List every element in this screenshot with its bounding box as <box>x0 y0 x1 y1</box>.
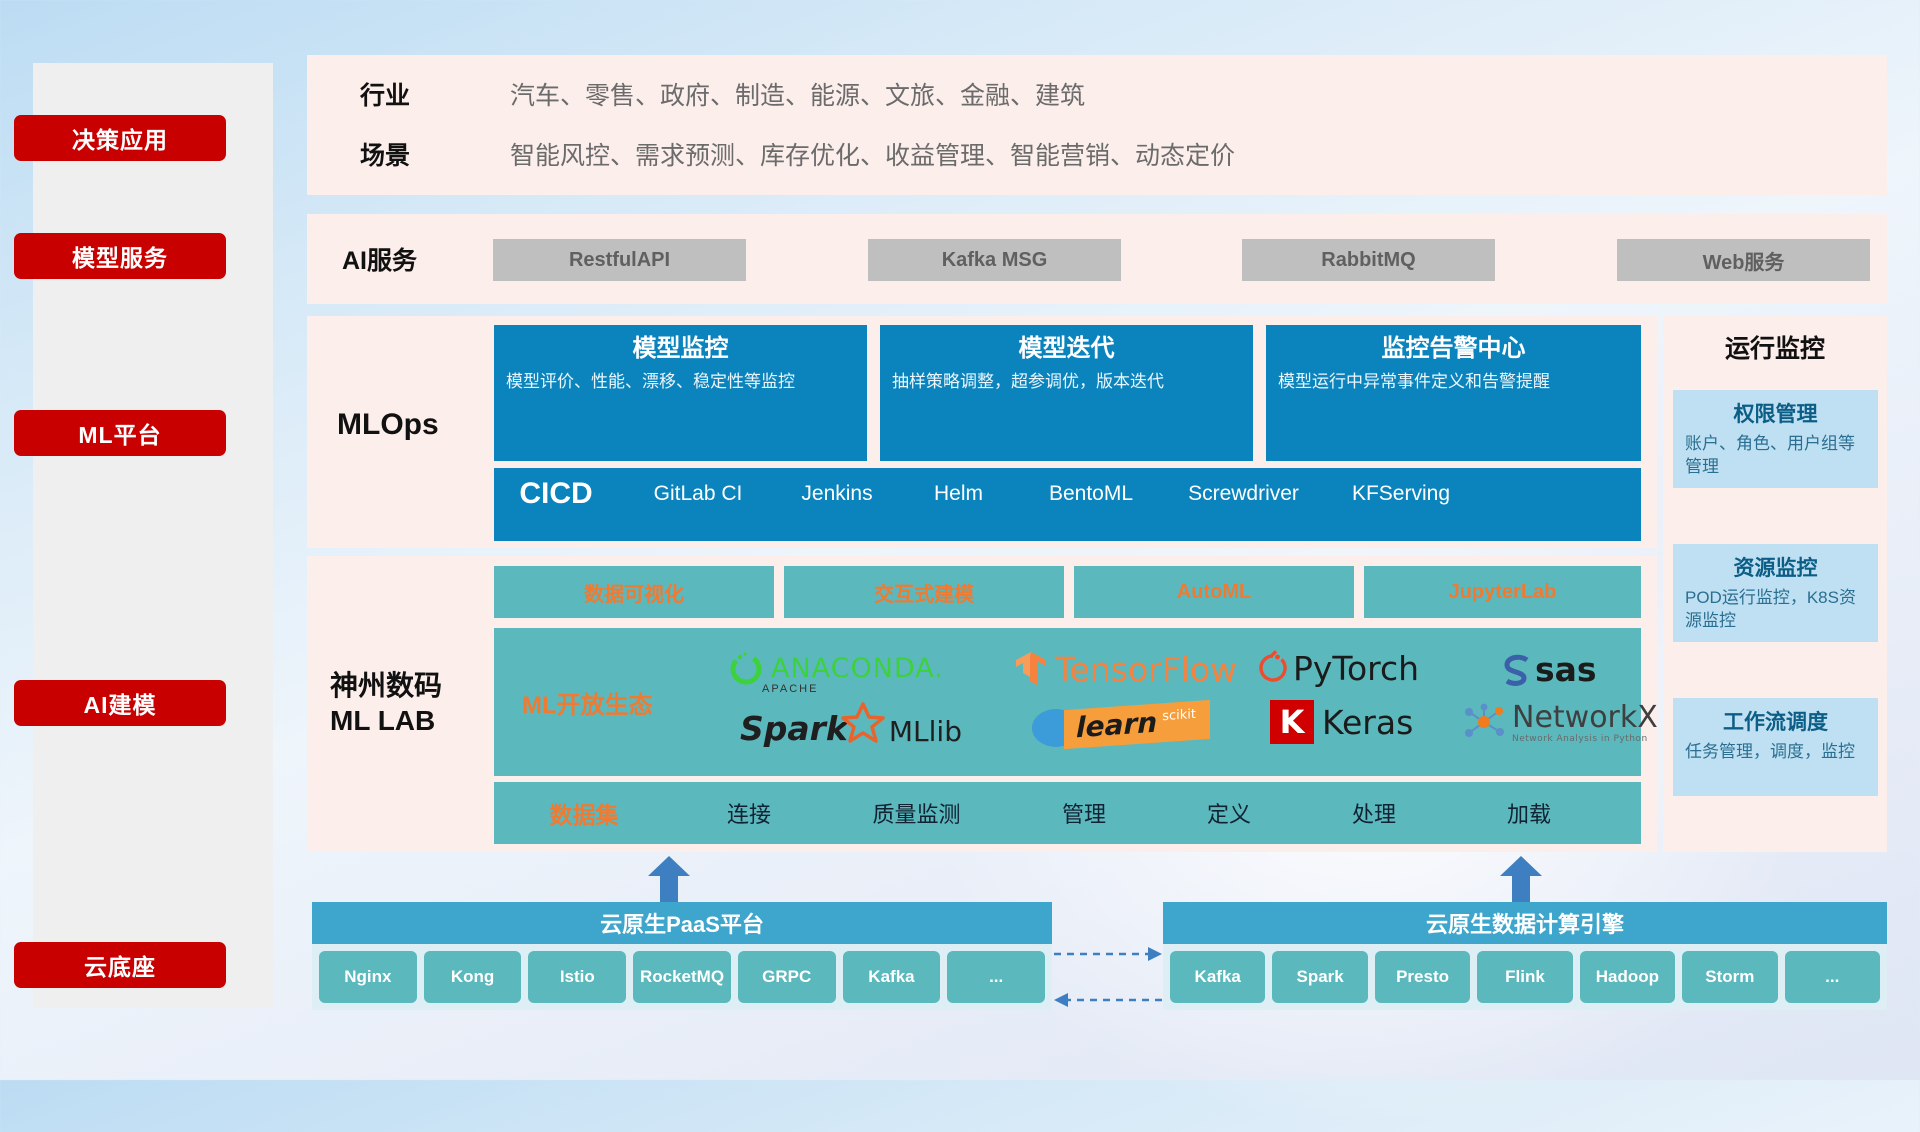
cicd-title: CICD <box>494 468 618 510</box>
cicd-item-gitlab-ci[interactable]: GitLab CI <box>618 468 778 505</box>
sidebar-item-label: 决策应用 <box>72 121 168 155</box>
mlops-label: MLOps <box>337 400 497 450</box>
keras-logo: K Keras <box>1270 700 1413 744</box>
ml-lab-label-line2: ML LAB <box>330 703 435 738</box>
compute-chip-flink[interactable]: Flink <box>1477 951 1572 1003</box>
ai-service-chip-web-service[interactable]: Web服务 <box>1617 239 1870 281</box>
cicd-bar[interactable]: CICD GitLab CI Jenkins Helm BentoML Scre… <box>494 468 1641 541</box>
card-desc: 模型评价、性能、漂移、稳定性等监控 <box>506 370 855 393</box>
sidebar-item-model-service[interactable]: 模型服务 <box>14 233 226 279</box>
card-desc: 模型运行中异常事件定义和告警提醒 <box>1278 370 1629 393</box>
compute-chip-presto[interactable]: Presto <box>1375 951 1470 1003</box>
card-title: 模型监控 <box>506 335 855 364</box>
paas-chip-more[interactable]: ... <box>947 951 1045 1003</box>
dataset-item-quality[interactable]: 质量监测 <box>824 797 1009 829</box>
left-rail <box>33 63 273 1008</box>
dataset-label: 数据集 <box>494 796 674 830</box>
sas-mark <box>1500 652 1534 688</box>
keras-mark: K <box>1270 700 1314 744</box>
monitoring-card-resource[interactable]: 资源监控 POD运行监控，K8S资源监控 <box>1673 544 1878 642</box>
cicd-item-jenkins[interactable]: Jenkins <box>778 468 896 505</box>
paas-chip-istio[interactable]: Istio <box>528 951 626 1003</box>
keras-wordmark: Keras <box>1322 703 1413 742</box>
monitoring-title: 运行监控 <box>1663 322 1887 372</box>
card-body: 账户、角色、用户组等管理 <box>1685 433 1866 479</box>
paas-platform-title: 云原生PaaS平台 <box>312 902 1052 944</box>
ai-service-label: AI服务 <box>342 238 492 280</box>
sidebar-item-decision-app[interactable]: 决策应用 <box>14 115 226 161</box>
ml-lab-label-line1: 神州数码 <box>330 668 442 703</box>
data-compute-engine-title: 云原生数据计算引擎 <box>1163 902 1887 944</box>
pytorch-logo: PyTorch <box>1256 648 1419 688</box>
dataset-row: 数据集 连接 质量监测 管理 定义 处理 加载 <box>494 782 1641 844</box>
ai-service-chip-kafka-msg[interactable]: Kafka MSG <box>868 239 1121 281</box>
card-title: 模型迭代 <box>892 335 1241 364</box>
scikit-learn-wordmark: learn <box>1076 705 1157 744</box>
dataset-item-process[interactable]: 处理 <box>1299 797 1449 829</box>
compute-chip-spark[interactable]: Spark <box>1272 951 1367 1003</box>
card-head: 权限管理 <box>1685 398 1866 428</box>
card-head: 资源监控 <box>1685 552 1866 582</box>
pytorch-mark <box>1256 648 1290 688</box>
scenario-label: 场景 <box>360 128 470 180</box>
paas-chip-rocketmq[interactable]: RocketMQ <box>633 951 731 1003</box>
mlops-card-alert-center[interactable]: 监控告警中心 模型运行中异常事件定义和告警提醒 <box>1266 325 1641 461</box>
data-compute-engine-box: 云原生数据计算引擎 Kafka Spark Presto Flink Hadoo… <box>1163 902 1887 1010</box>
ai-service-chip-rabbitmq[interactable]: RabbitMQ <box>1242 239 1495 281</box>
ml-lab-label: 神州数码 ML LAB <box>330 663 495 743</box>
industry-label: 行业 <box>360 68 470 120</box>
sidebar-item-cloud-base[interactable]: 云底座 <box>14 942 226 988</box>
tensorflow-wordmark: TensorFlow <box>1055 650 1237 689</box>
dataset-item-manage[interactable]: 管理 <box>1009 797 1159 829</box>
spark-wordmark: Spark <box>740 709 848 748</box>
scikit-top-text: scikit <box>1162 706 1196 723</box>
compute-chip-list: Kafka Spark Presto Flink Hadoop Storm ..… <box>1163 944 1887 1010</box>
sidebar-item-label: 云底座 <box>84 948 156 982</box>
compute-chip-kafka[interactable]: Kafka <box>1170 951 1265 1003</box>
spark-apache-text: APACHE <box>762 683 818 695</box>
cicd-item-bentoml[interactable]: BentoML <box>1021 468 1161 505</box>
card-head: 工作流调度 <box>1685 706 1866 736</box>
paas-chip-kong[interactable]: Kong <box>424 951 522 1003</box>
card-desc: 抽样策略调整，超参调优，版本迭代 <box>892 370 1241 393</box>
arrow-up-compute-icon <box>1500 856 1542 902</box>
sidebar-item-ml-platform[interactable]: ML平台 <box>14 410 226 456</box>
tab-automl[interactable]: AutoML <box>1074 566 1354 618</box>
mlops-card-model-iteration[interactable]: 模型迭代 抽样策略调整，超参调优，版本迭代 <box>880 325 1253 461</box>
industry-value: 汽车、零售、政府、制造、能源、文旅、金融、建筑 <box>510 68 1085 120</box>
pytorch-wordmark: PyTorch <box>1293 649 1419 688</box>
sidebar-item-ai-modeling[interactable]: AI建模 <box>14 680 226 726</box>
compute-chip-hadoop[interactable]: Hadoop <box>1580 951 1675 1003</box>
sidebar-item-label: AI建模 <box>84 686 157 720</box>
paas-chip-nginx[interactable]: Nginx <box>319 951 417 1003</box>
cicd-item-helm[interactable]: Helm <box>896 468 1021 505</box>
sidebar-item-label: ML平台 <box>78 416 161 450</box>
cicd-item-screwdriver[interactable]: Screwdriver <box>1161 468 1326 505</box>
monitoring-card-permission[interactable]: 权限管理 账户、角色、用户组等管理 <box>1673 390 1878 488</box>
arrow-up-paas-icon <box>648 856 690 902</box>
tensorflow-logo: TensorFlow <box>1010 648 1237 690</box>
mllib-wordmark: MLlib <box>889 715 962 748</box>
sidebar-item-label: 模型服务 <box>72 239 168 273</box>
dataset-item-connect[interactable]: 连接 <box>674 797 824 829</box>
dataset-item-define[interactable]: 定义 <box>1159 797 1299 829</box>
spark-mllib-logo: APACHE Spark MLlib <box>740 700 962 748</box>
card-title: 监控告警中心 <box>1278 335 1629 364</box>
paas-chip-kafka[interactable]: Kafka <box>843 951 941 1003</box>
networkx-tagline: Network Analysis in Python <box>1512 735 1658 744</box>
sas-logo: sas <box>1500 650 1597 689</box>
cloud-connector-arrows-icon <box>1052 940 1164 1020</box>
scenario-value: 智能风控、需求预测、库存优化、收益管理、智能营销、动态定价 <box>510 128 1235 180</box>
sas-wordmark: sas <box>1535 650 1597 689</box>
scikit-learn-logo: learn scikit <box>1030 700 1210 748</box>
compute-chip-storm[interactable]: Storm <box>1682 951 1777 1003</box>
architecture-diagram: 决策应用 模型服务 ML平台 AI建模 云底座 行业 汽车、零售、政府、制造、能… <box>0 0 1920 1080</box>
tensorflow-mark <box>1010 648 1052 690</box>
ai-service-chip-restfulapi[interactable]: RestfulAPI <box>493 239 746 281</box>
mlops-card-model-monitoring[interactable]: 模型监控 模型评价、性能、漂移、稳定性等监控 <box>494 325 867 461</box>
anaconda-mark <box>726 648 766 688</box>
networkx-mark <box>1460 702 1508 744</box>
cicd-item-kfserving[interactable]: KFServing <box>1326 468 1476 505</box>
monitoring-card-workflow[interactable]: 工作流调度 任务管理，调度，监控 <box>1673 698 1878 796</box>
compute-chip-more[interactable]: ... <box>1785 951 1880 1003</box>
tab-data-visualization[interactable]: 数据可视化 <box>494 566 774 618</box>
spark-star-mark <box>840 700 886 746</box>
dataset-item-load[interactable]: 加载 <box>1449 797 1609 829</box>
tab-jupyterlab[interactable]: JupyterLab <box>1364 566 1641 618</box>
card-body: 任务管理，调度，监控 <box>1685 741 1866 764</box>
anaconda-wordmark: ANACONDA. <box>771 653 944 684</box>
anaconda-logo: ANACONDA. <box>726 648 944 688</box>
networkx-wordmark: NetworkX <box>1512 703 1658 733</box>
card-body: POD运行监控，K8S资源监控 <box>1685 587 1866 633</box>
networkx-logo: NetworkX Network Analysis in Python <box>1460 702 1658 744</box>
paas-chip-grpc[interactable]: GRPC <box>738 951 836 1003</box>
paas-chip-list: Nginx Kong Istio RocketMQ GRPC Kafka ... <box>312 944 1052 1010</box>
paas-platform-box: 云原生PaaS平台 Nginx Kong Istio RocketMQ GRPC… <box>312 902 1052 1010</box>
ml-open-ecosystem-label: ML开放生态 <box>522 676 722 728</box>
tab-interactive-modeling[interactable]: 交互式建模 <box>784 566 1064 618</box>
